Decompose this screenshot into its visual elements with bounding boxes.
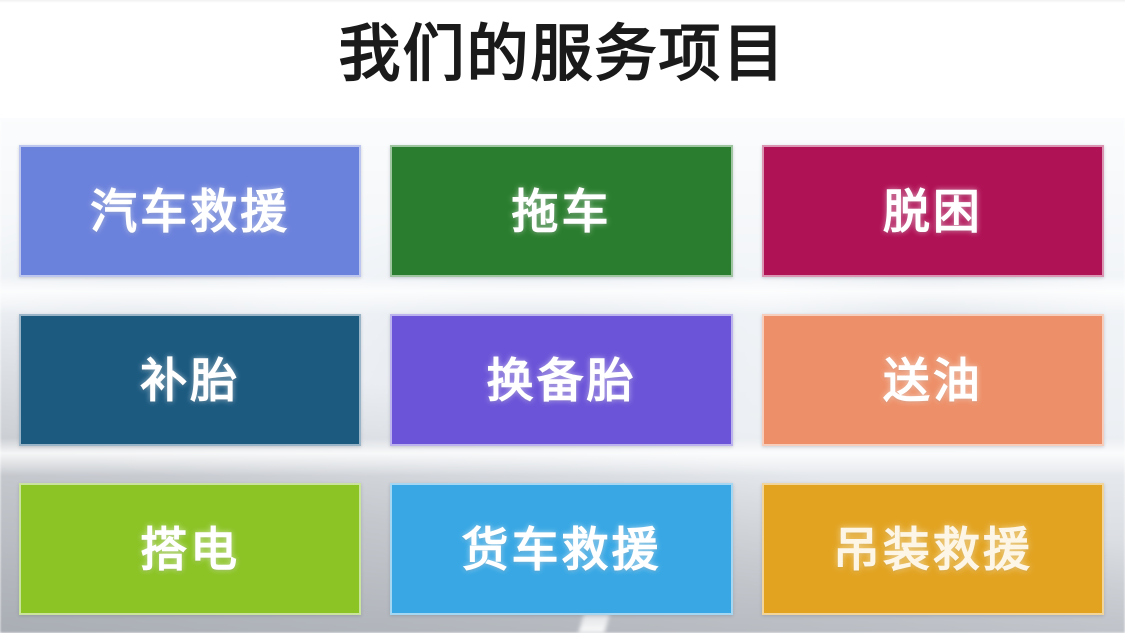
service-tile-label: 拖车 [511,188,611,235]
service-tile-label: 补胎 [140,357,240,404]
service-tile-label: 汽车救援 [90,188,290,235]
service-tile-crane-rescue[interactable]: 吊装救援 [762,483,1104,615]
service-tile-tire-repair[interactable]: 补胎 [19,314,361,446]
page-title: 我们的服务项目 [0,20,1125,89]
service-tile-spare-tire[interactable]: 换备胎 [390,314,732,446]
service-tile-towing[interactable]: 拖车 [390,145,732,277]
service-tile-label: 送油 [883,357,983,404]
service-grid: 汽车救援 拖车 脱困 补胎 换备胎 送油 搭电 货车救援 吊装救援 [19,145,1104,615]
service-tile-label: 换备胎 [486,357,636,404]
service-tile-label: 吊装救援 [833,526,1033,573]
service-tile-label: 搭电 [140,526,240,573]
service-tile-truck-rescue[interactable]: 货车救援 [390,483,732,615]
background-top-edge-line [0,0,1125,3]
service-tile-extrication[interactable]: 脱困 [762,145,1104,277]
service-tile-jump-start[interactable]: 搭电 [19,483,361,615]
service-tile-label: 货车救援 [461,526,661,573]
service-tile-car-rescue[interactable]: 汽车救援 [19,145,361,277]
service-tile-label: 脱困 [883,188,983,235]
service-tile-fuel-delivery[interactable]: 送油 [762,314,1104,446]
service-poster: 我们的服务项目 汽车救援 拖车 脱困 补胎 换备胎 送油 搭电 货车救援 吊装救… [0,0,1125,633]
